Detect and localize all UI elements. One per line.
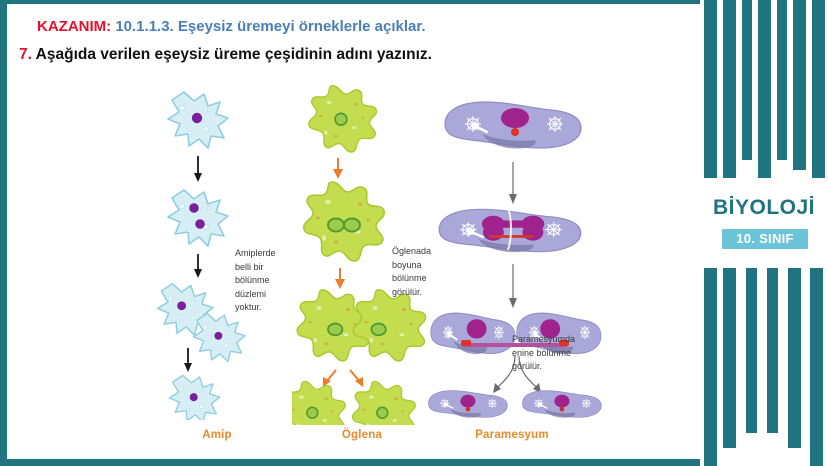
amip-stage-1	[168, 92, 228, 148]
oglena-stage-1	[309, 86, 377, 152]
amip-stage-3	[158, 284, 245, 362]
worksheet-page: KAZANIM: 10.1.1.3. Eşeysiz üremeyi örnek…	[0, 0, 828, 466]
barcode-bar	[767, 268, 778, 433]
oglena-stage-4b	[352, 382, 415, 425]
barcode-bar	[746, 268, 757, 433]
question-number: 7.	[19, 46, 32, 63]
species-label-amip: Amip	[152, 429, 282, 441]
oglena-stage-4a	[292, 382, 345, 425]
header: KAZANIM: 10.1.1.3. Eşeysiz üremeyi örnek…	[7, 4, 692, 76]
barcode-bar	[704, 0, 717, 178]
barcode-bar	[810, 268, 823, 466]
barcode-bar	[777, 0, 787, 160]
barcode-bar	[704, 268, 717, 466]
oglena-stage-3b	[353, 290, 425, 361]
diagram-column-paramesyum: Paramesyum	[427, 80, 692, 459]
reproduction-diagram: Amip	[7, 80, 692, 459]
barcode-bar	[723, 0, 736, 178]
brand-panel: BİYOLOJİ 10. SINIF	[700, 0, 828, 466]
oglena-stage-2	[304, 182, 385, 261]
brand-subtitle: 10. SINIF	[722, 229, 808, 249]
question-line: 7. Aşağıda verilen eşeysiz üreme çeşidin…	[19, 46, 432, 64]
frame-left-edge	[0, 0, 7, 466]
param-stage-2	[439, 208, 580, 253]
objective-line: KAZANIM: 10.1.1.3. Eşeysiz üremeyi örnek…	[37, 18, 426, 35]
amip-stage-2	[168, 190, 228, 246]
species-label-oglena: Öglena	[292, 429, 432, 441]
caption-oglena: Öglenada boyuna bölünme görülür.	[392, 245, 448, 299]
amip-stage-4a	[169, 375, 219, 420]
frame-bottom-edge	[0, 459, 700, 466]
caption-amip: Amiplerde belli bir bölünme düzlemi yokt…	[235, 247, 295, 315]
barcode-bar	[788, 268, 801, 448]
barcode-bar	[793, 0, 806, 170]
question-text: Aşağıda verilen eşeysiz üreme çeşidinin …	[36, 46, 432, 63]
objective-label: KAZANIM:	[37, 18, 111, 35]
barcode-bar	[758, 0, 771, 178]
barcode-bar	[742, 0, 752, 160]
caption-paramesyum: Paramesyumda enine bölünme görülür.	[512, 333, 584, 377]
param-stage-4a	[428, 391, 507, 418]
brand-title: BİYOLOJİ	[700, 196, 828, 220]
barcode-bar	[812, 0, 825, 178]
barcode-bars-top	[700, 0, 828, 178]
param-stage-1	[445, 102, 581, 149]
param-stage-4b	[522, 391, 601, 418]
barcode-bars-bottom	[700, 268, 828, 466]
species-label-paramesyum: Paramesyum	[427, 429, 597, 441]
objective-text: 10.1.1.3. Eşeysiz üremeyi örneklerle açı…	[115, 18, 425, 35]
barcode-bar	[723, 268, 736, 448]
